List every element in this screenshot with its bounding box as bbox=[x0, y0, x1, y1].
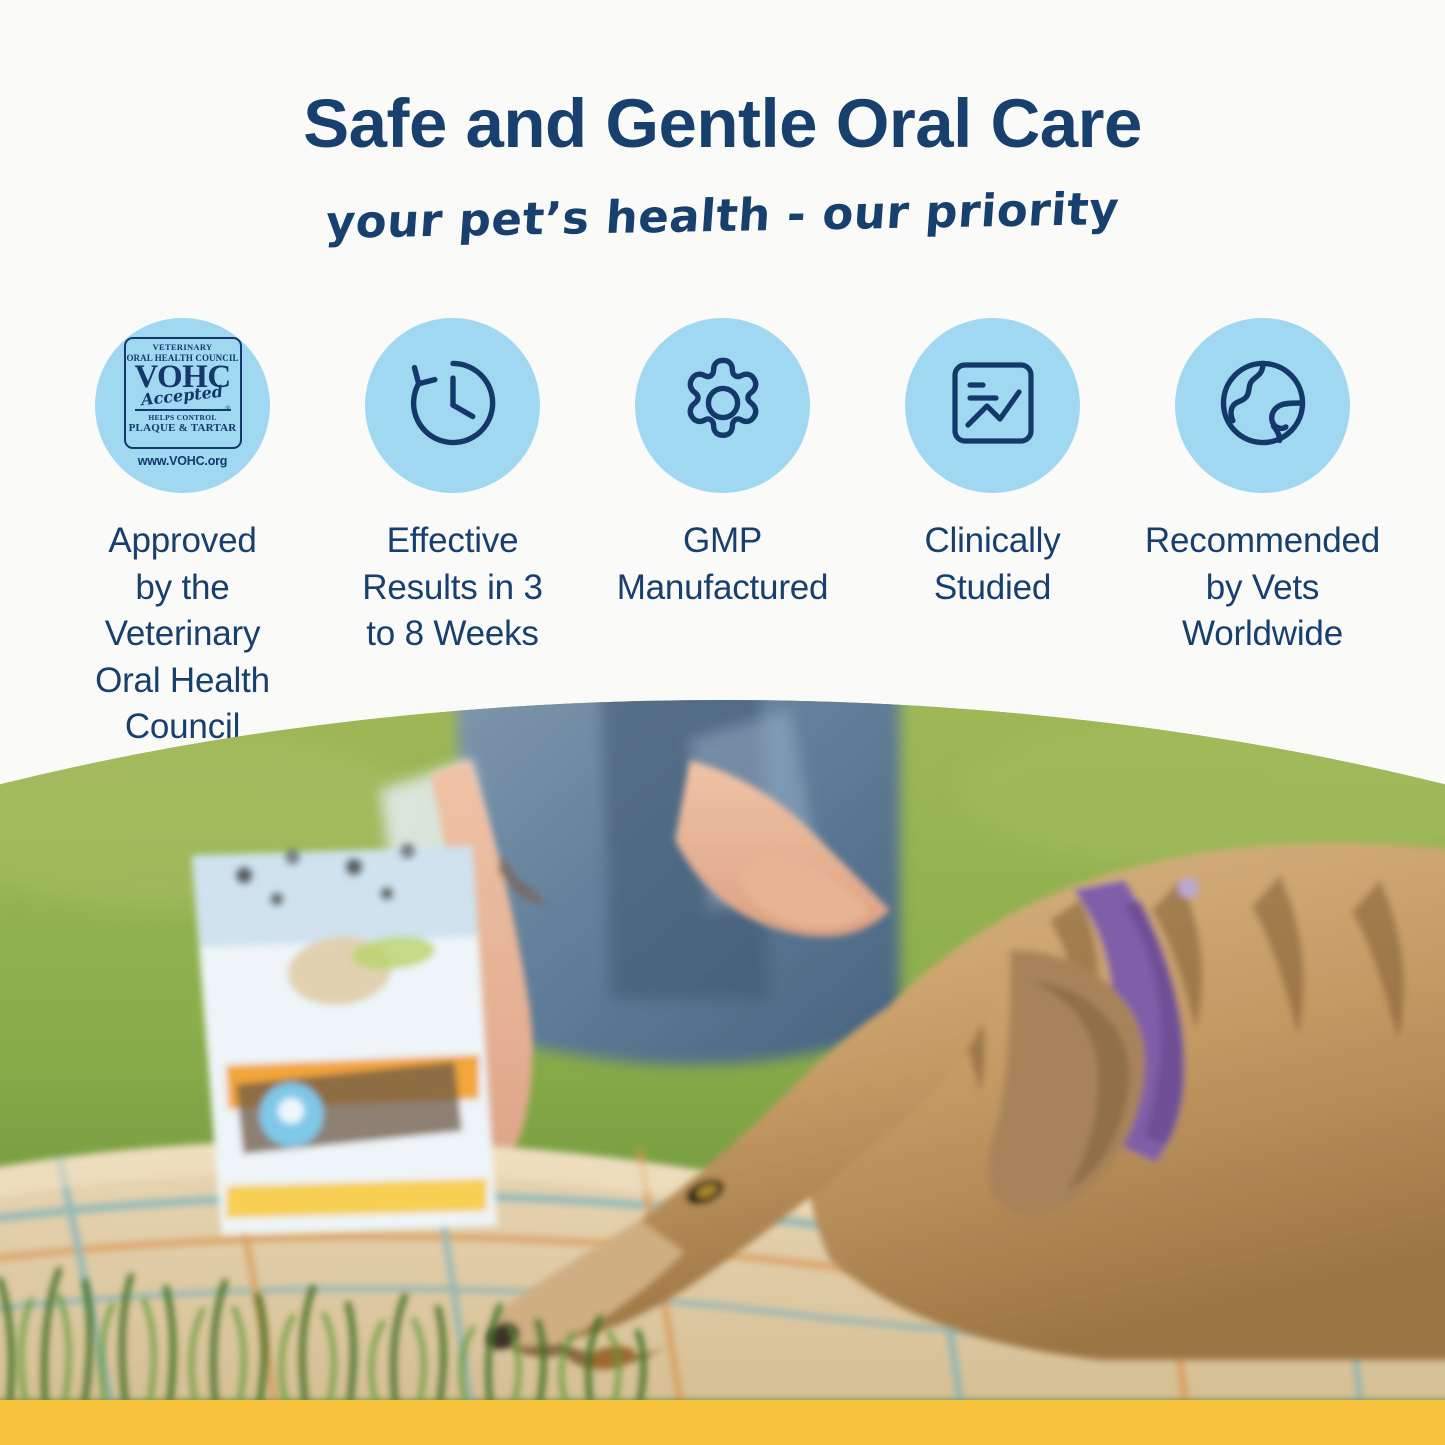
vohc-script: Accepted bbox=[141, 384, 224, 408]
vohc-sub2: PLAQUE & TARTAR bbox=[129, 422, 237, 434]
feature-label: Effective Results in 3 to 8 Weeks bbox=[362, 518, 542, 658]
feature-icon-circle: VETERINARY ORAL HEALTH COUNCIL VOHC Acce… bbox=[95, 318, 270, 493]
hero-photo-artwork bbox=[0, 700, 1445, 1400]
vohc-divider bbox=[135, 409, 231, 411]
page-subtitle: your pet’s health - our priority bbox=[0, 176, 1445, 254]
registered-mark-icon: ® bbox=[225, 405, 230, 413]
feature-effective-results: Effective Results in 3 to 8 Weeks bbox=[318, 318, 588, 658]
feature-icon-circle bbox=[1175, 318, 1350, 493]
feature-icon-circle bbox=[905, 318, 1080, 493]
feature-label: Clinically Studied bbox=[924, 518, 1060, 611]
vohc-sub1: HELPS CONTROL bbox=[148, 414, 216, 422]
hero-photo bbox=[0, 700, 1445, 1400]
feature-gmp-manufactured: GMP Manufactured bbox=[588, 318, 858, 611]
feature-icon-circle bbox=[365, 318, 540, 493]
bottom-accent-bar bbox=[0, 1400, 1445, 1445]
vohc-seal-box: VETERINARY ORAL HEALTH COUNCIL VOHC Acce… bbox=[124, 337, 242, 449]
feature-label: GMP Manufactured bbox=[617, 518, 829, 611]
hero-photo-arc-mask bbox=[0, 700, 1445, 1400]
feature-approved-vohc: VETERINARY ORAL HEALTH COUNCIL VOHC Acce… bbox=[48, 318, 318, 751]
feature-label: Recommended by Vets Worldwide bbox=[1145, 518, 1380, 658]
feature-recommended-by-vets: Recommended by Vets Worldwide bbox=[1128, 318, 1398, 658]
globe-icon bbox=[1211, 351, 1315, 460]
chart-report-icon bbox=[943, 353, 1043, 458]
clock-rotate-icon bbox=[401, 351, 505, 460]
vohc-seal-icon: VETERINARY ORAL HEALTH COUNCIL VOHC Acce… bbox=[119, 337, 247, 476]
vohc-line1: VETERINARY bbox=[153, 343, 213, 353]
promo-page: Safe and Gentle Oral Care your pet’s hea… bbox=[0, 0, 1445, 1445]
feature-clinically-studied: Clinically Studied bbox=[858, 318, 1128, 611]
feature-icon-circle bbox=[635, 318, 810, 493]
vohc-url: www.VOHC.org bbox=[138, 454, 228, 468]
page-title: Safe and Gentle Oral Care bbox=[0, 88, 1445, 160]
gear-icon bbox=[671, 351, 775, 460]
feature-row: VETERINARY ORAL HEALTH COUNCIL VOHC Acce… bbox=[0, 318, 1445, 751]
